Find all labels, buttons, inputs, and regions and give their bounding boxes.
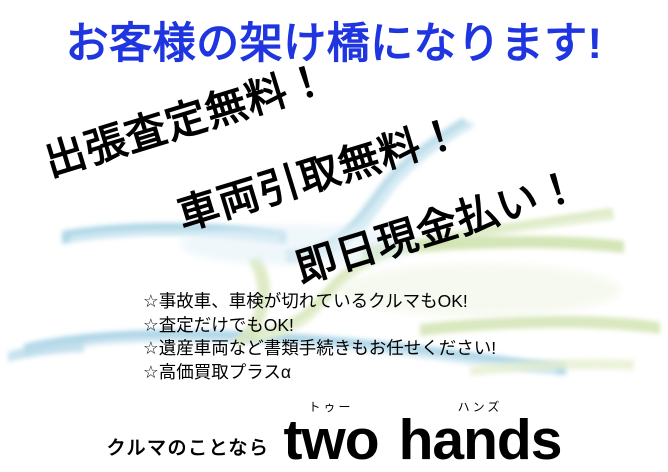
wordmark-hands: ハンズ hands bbox=[399, 401, 562, 466]
blue-band-mid-left-soft bbox=[70, 230, 280, 242]
blue-band-mid-left bbox=[62, 223, 286, 244]
star-icon: ☆ bbox=[143, 291, 159, 311]
wordmark-text-two: two bbox=[283, 414, 378, 466]
star-icon: ☆ bbox=[143, 338, 159, 358]
list-item-label: 高価買取プラスα bbox=[159, 362, 291, 382]
list-item: ☆遺産車両など書類手続きもお任せください! bbox=[143, 337, 496, 361]
blue-accent-left bbox=[8, 341, 84, 362]
tagline: クルマのことなら bbox=[107, 433, 270, 466]
star-icon: ☆ bbox=[143, 362, 159, 382]
list-item: ☆高価買取プラスα bbox=[143, 361, 496, 385]
list-item-label: 事故車、車検が切れているクルマもOK! bbox=[159, 291, 468, 311]
list-item-label: 査定だけでもOK! bbox=[159, 315, 294, 335]
feature-list: ☆事故車、車検が切れているクルマもOK! ☆査定だけでもOK! ☆遺産車両など書… bbox=[143, 290, 496, 384]
list-item: ☆査定だけでもOK! bbox=[143, 314, 496, 338]
brand-wordmark: トゥー two ハンズ hands bbox=[283, 401, 561, 466]
page-title: お客様の架け橋になります! bbox=[0, 22, 668, 67]
flyer-page: お客様の架け橋になります! 出張査定無料！ 車両引取無料！ 即日現金払い！ ☆事… bbox=[0, 0, 668, 472]
list-item-label: 遺産車両など書類手続きもお任せください! bbox=[159, 338, 496, 358]
wordmark-text-hands: hands bbox=[399, 414, 562, 466]
wordmark-two: トゥー two bbox=[283, 401, 378, 466]
star-icon: ☆ bbox=[143, 315, 159, 335]
list-item: ☆事故車、車検が切れているクルマもOK! bbox=[143, 290, 496, 314]
logo-lockup: クルマのことなら トゥー two ハンズ hands bbox=[0, 401, 668, 466]
